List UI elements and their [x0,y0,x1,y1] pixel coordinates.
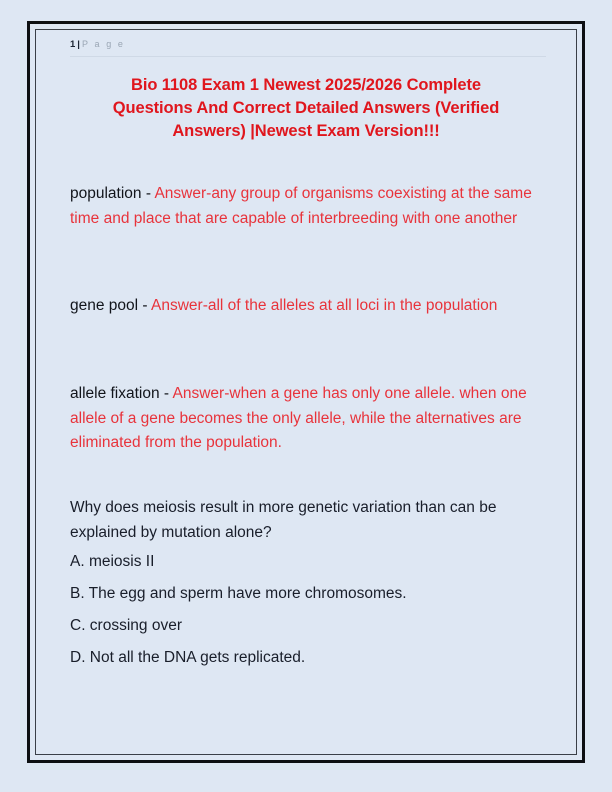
document-title-line-3: Answers) |Newest Exam Version!!! [172,122,439,140]
qa-term: gene pool - [70,297,151,314]
header-page-word: P a g e [82,39,125,49]
question-option-c: C. crossing over [70,615,540,637]
qa-term: allele fixation - [70,385,173,402]
page-content: 1|P a g e Bio 1108 Exam 1 Newest 2025/20… [36,30,576,754]
question-prompt: Why does meiosis result in more genetic … [70,496,540,545]
qa-answer: Answer-all of the alleles at all loci in… [151,297,497,314]
document-title-line-2: Questions And Correct Detailed Answers (… [113,99,499,117]
qa-entry-allele-fixation: allele fixation - Answer-when a gene has… [70,382,540,456]
document-title: Bio 1108 Exam 1 Newest 2025/2026 Complet… [70,74,542,143]
question-option-b: B. The egg and sperm have more chromosom… [70,583,540,605]
qa-entry-population: population - Answer-any group of organis… [70,182,540,231]
qa-entry-gene-pool: gene pool - Answer-all of the alleles at… [70,294,540,319]
question-option-a: A. meiosis II [70,551,540,573]
document-page: 1|P a g e Bio 1108 Exam 1 Newest 2025/20… [0,0,612,792]
running-header: 1|P a g e [70,37,542,52]
question-option-d: D. Not all the DNA gets replicated. [70,647,540,669]
qa-term: population - [70,185,154,202]
header-separator: | [75,39,82,50]
document-title-line-1: Bio 1108 Exam 1 Newest 2025/2026 Complet… [131,76,481,94]
header-divider-rule [70,56,546,57]
